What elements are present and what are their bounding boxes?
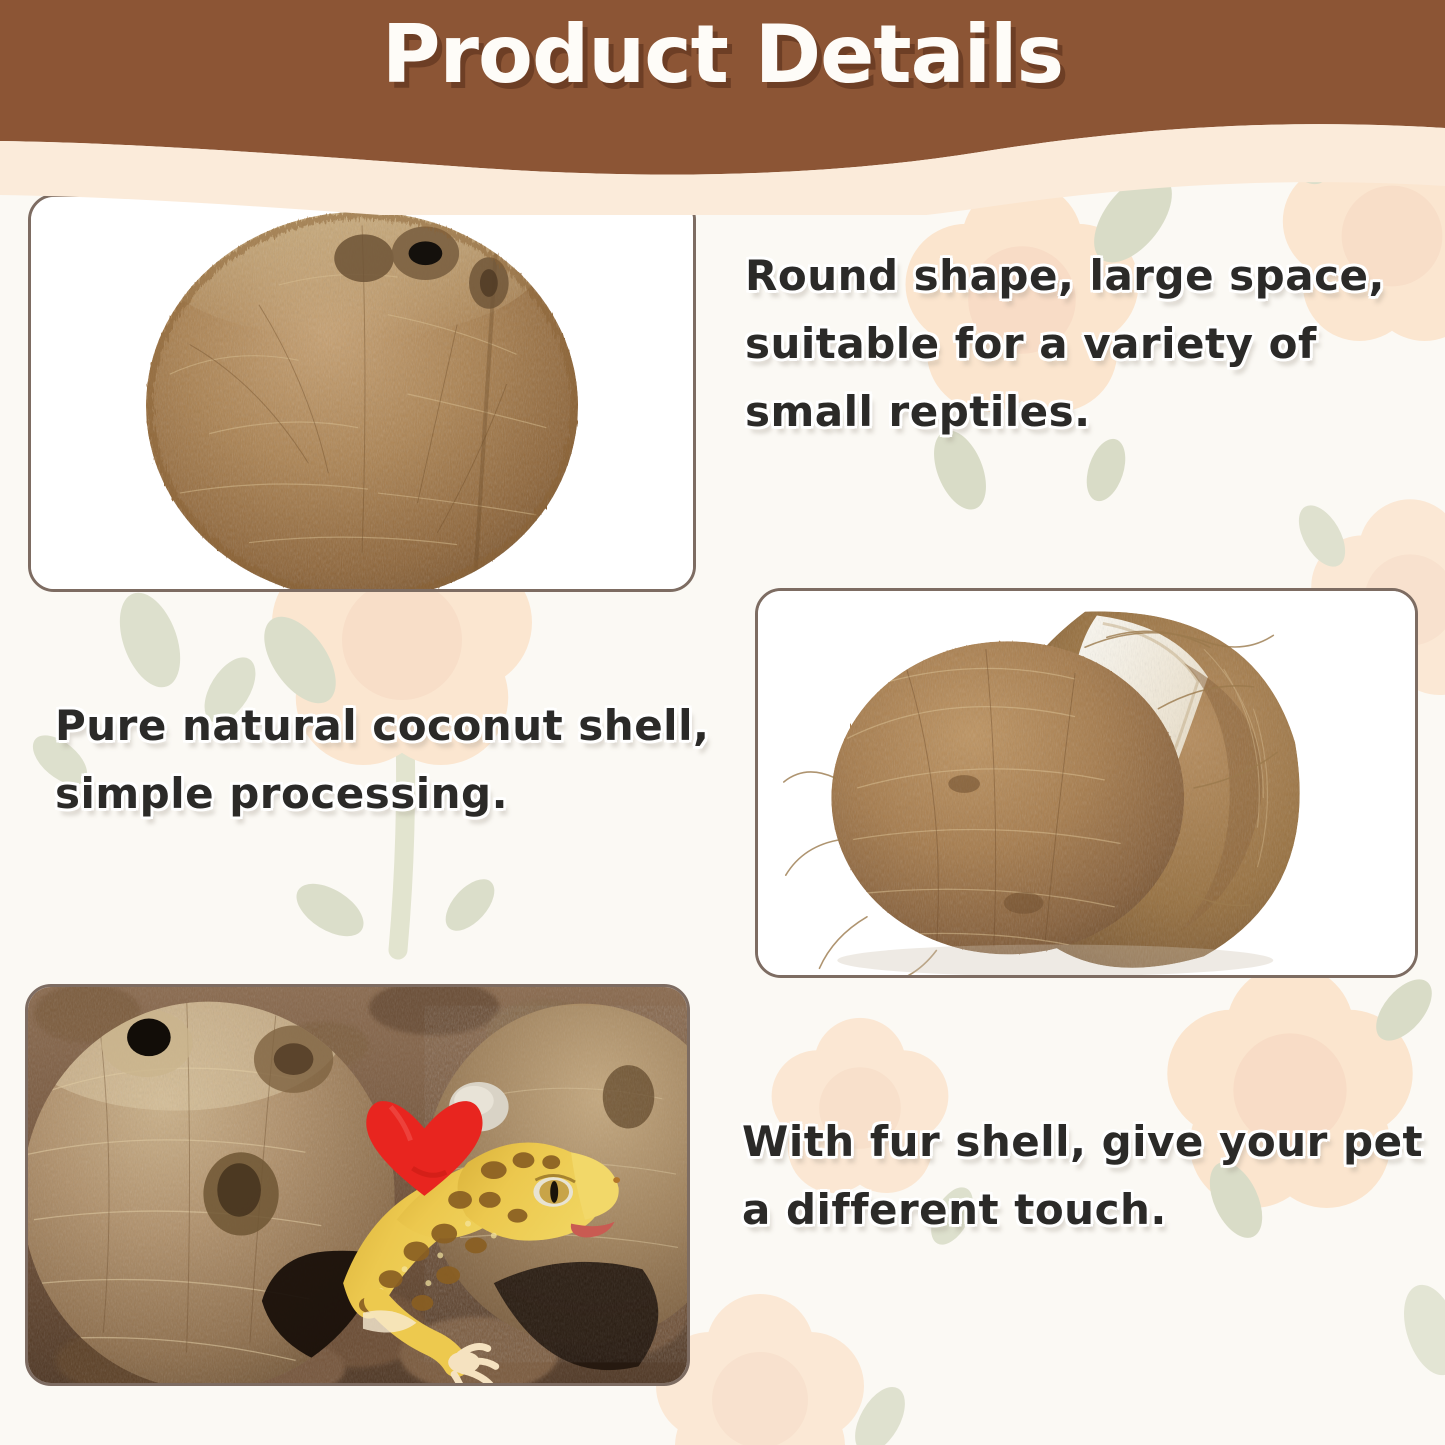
caption-pure-natural: Pure natural coconut shell, simple proce… bbox=[55, 692, 735, 828]
coconut-halves-image bbox=[758, 591, 1415, 975]
caption-fur-shell: With fur shell, give your pet a differen… bbox=[742, 1108, 1437, 1244]
caption-round-shape: Round shape, large space, suitable for a… bbox=[745, 242, 1435, 446]
gecko-in-coconut-hide-image bbox=[28, 987, 687, 1383]
bg-flower-bottom-center bbox=[656, 1294, 915, 1445]
photo-frame-gecko-in-coconut-hide[interactable] bbox=[25, 984, 690, 1386]
product-details-infographic: Product Details bbox=[0, 0, 1445, 1445]
header-banner: Product Details bbox=[0, 0, 1445, 215]
page-title: Product Details bbox=[0, 8, 1445, 101]
photo-frame-coconut-shell-dome[interactable] bbox=[28, 194, 696, 592]
coconut-shell-dome-image bbox=[31, 197, 693, 589]
bg-leaf-bottom-far-right bbox=[1394, 1278, 1445, 1383]
photo-frame-coconut-halves[interactable] bbox=[755, 588, 1418, 978]
